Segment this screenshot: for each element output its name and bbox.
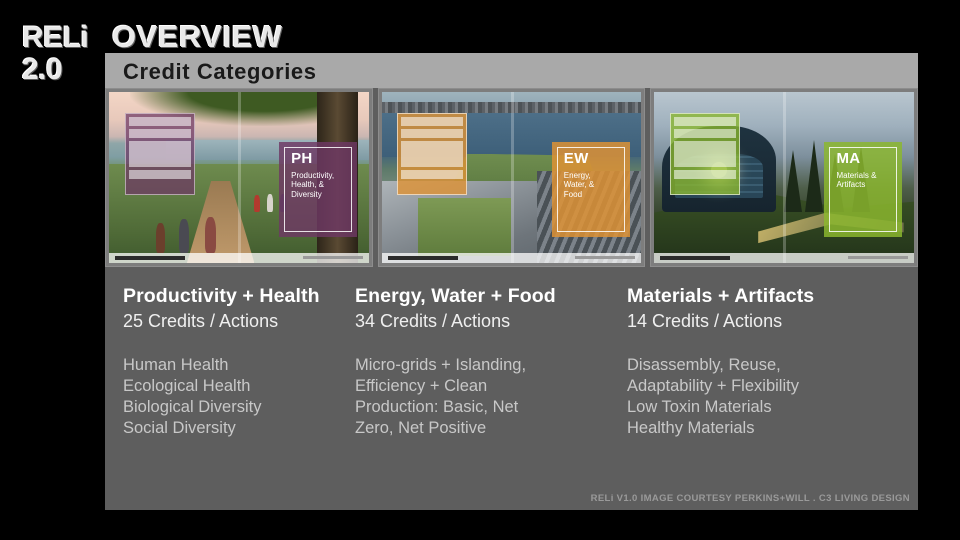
list-item: Efficiency + Clean (355, 376, 609, 397)
list-item: Social Diversity (123, 418, 337, 439)
info-row (401, 170, 463, 179)
person-figure (156, 223, 165, 253)
roof-garden-court (418, 198, 511, 256)
category-badge-ph[interactable]: PH Productivity, Health, & Diversity (279, 142, 357, 238)
fir-tree (784, 150, 802, 212)
category-title: Materials + Artifacts (627, 284, 882, 308)
spread-page-ma: MA Materials & Artifacts (654, 92, 914, 263)
category-column-energy-water-food: Energy, Water + Food 34 Credits / Action… (355, 284, 627, 484)
spread-info-card-ph (125, 113, 195, 195)
spread-page-ew: EW Energy, Water, & Food (382, 92, 642, 263)
info-row (129, 170, 191, 179)
info-row (674, 170, 736, 179)
info-row (401, 141, 463, 167)
category-column-productivity-health: Productivity + Health 25 Credits / Actio… (105, 284, 355, 484)
info-row (401, 129, 463, 138)
spread-image-strip: PH Productivity, Health, & Diversity (105, 88, 918, 267)
spread-image-ma[interactable]: MA Materials & Artifacts (650, 88, 918, 267)
spread-info-card-ma (670, 113, 740, 195)
category-credits: 34 Credits / Actions (355, 309, 609, 333)
page-footer (382, 253, 642, 263)
category-item-list: Micro-grids + Islanding, Efficiency + Cl… (355, 355, 609, 439)
category-credits: 25 Credits / Actions (123, 309, 337, 333)
page-title: OVERVIEW (112, 20, 283, 54)
info-row (401, 117, 463, 126)
badge-code: PH (291, 151, 312, 166)
category-column-materials-artifacts: Materials + Artifacts 14 Credits / Actio… (627, 284, 900, 484)
category-item-list: Human Health Ecological Health Biologica… (123, 355, 337, 439)
info-row (674, 129, 736, 138)
category-title: Energy, Water + Food (355, 284, 609, 308)
spread-page-ph: PH Productivity, Health, & Diversity (109, 92, 369, 263)
spread-info-card-ew (397, 113, 467, 195)
info-row (129, 129, 191, 138)
person-figure (205, 217, 216, 253)
person-figure (267, 194, 273, 212)
badge-subtitle: Productivity, Health, & Diversity (291, 171, 349, 200)
list-item: Human Health (123, 355, 337, 376)
page-footer-bar (660, 256, 730, 260)
category-badge-ew[interactable]: EW Energy, Water, & Food (552, 142, 630, 238)
image-credit-line: RELi V1.0 IMAGE COURTESY PERKINS+WILL . … (105, 493, 918, 504)
page-footer-bar (115, 256, 185, 260)
info-row (674, 141, 736, 167)
list-item: Adaptability + Flexibility (627, 376, 882, 397)
info-row (129, 117, 191, 126)
category-item-list: Disassembly, Reuse, Adaptability + Flexi… (627, 355, 882, 439)
list-item: Zero, Net Positive (355, 418, 609, 439)
list-item: Low Toxin Materials (627, 397, 882, 418)
category-badge-ma[interactable]: MA Materials & Artifacts (824, 142, 902, 238)
badge-code: EW (564, 151, 589, 166)
page-footer (109, 253, 369, 263)
section-title-bar: Credit Categories (105, 53, 918, 88)
list-item: Ecological Health (123, 376, 337, 397)
person-figure (254, 195, 260, 212)
spread-image-ph[interactable]: PH Productivity, Health, & Diversity (105, 88, 373, 267)
category-columns: Productivity + Health 25 Credits / Actio… (105, 284, 918, 484)
page-footer (654, 253, 914, 263)
page-footer-caption (303, 256, 363, 259)
book-gutter (238, 92, 241, 263)
badge-code: MA (836, 151, 860, 166)
badge-subtitle: Materials & Artifacts (836, 171, 894, 190)
page-footer-caption (848, 256, 908, 259)
book-gutter (511, 92, 514, 263)
list-item: Production: Basic, Net (355, 397, 609, 418)
page-footer-caption (575, 256, 635, 259)
category-credits: 14 Credits / Actions (627, 309, 882, 333)
list-item: Micro-grids + Islanding, (355, 355, 609, 376)
info-row (674, 117, 736, 126)
badge-subtitle: Energy, Water, & Food (564, 171, 622, 200)
spread-image-ew[interactable]: EW Energy, Water, & Food (378, 88, 646, 267)
page-footer-bar (388, 256, 458, 260)
section-title: Credit Categories (123, 59, 317, 85)
person-figure (179, 219, 189, 253)
category-title: Productivity + Health (123, 284, 337, 308)
brand-logo: RELi 2.0 (22, 22, 102, 86)
list-item: Biological Diversity (123, 397, 337, 418)
info-row (129, 141, 191, 167)
brand-name: RELi (22, 22, 102, 54)
list-item: Disassembly, Reuse, (627, 355, 882, 376)
list-item: Healthy Materials (627, 418, 882, 439)
content-panel: PH Productivity, Health, & Diversity (105, 88, 918, 510)
slide-root: RELi 2.0 OVERVIEW Credit Categories (0, 0, 960, 540)
brand-version: 2.0 (22, 54, 102, 86)
fir-tree (805, 140, 823, 212)
book-gutter (783, 92, 786, 263)
